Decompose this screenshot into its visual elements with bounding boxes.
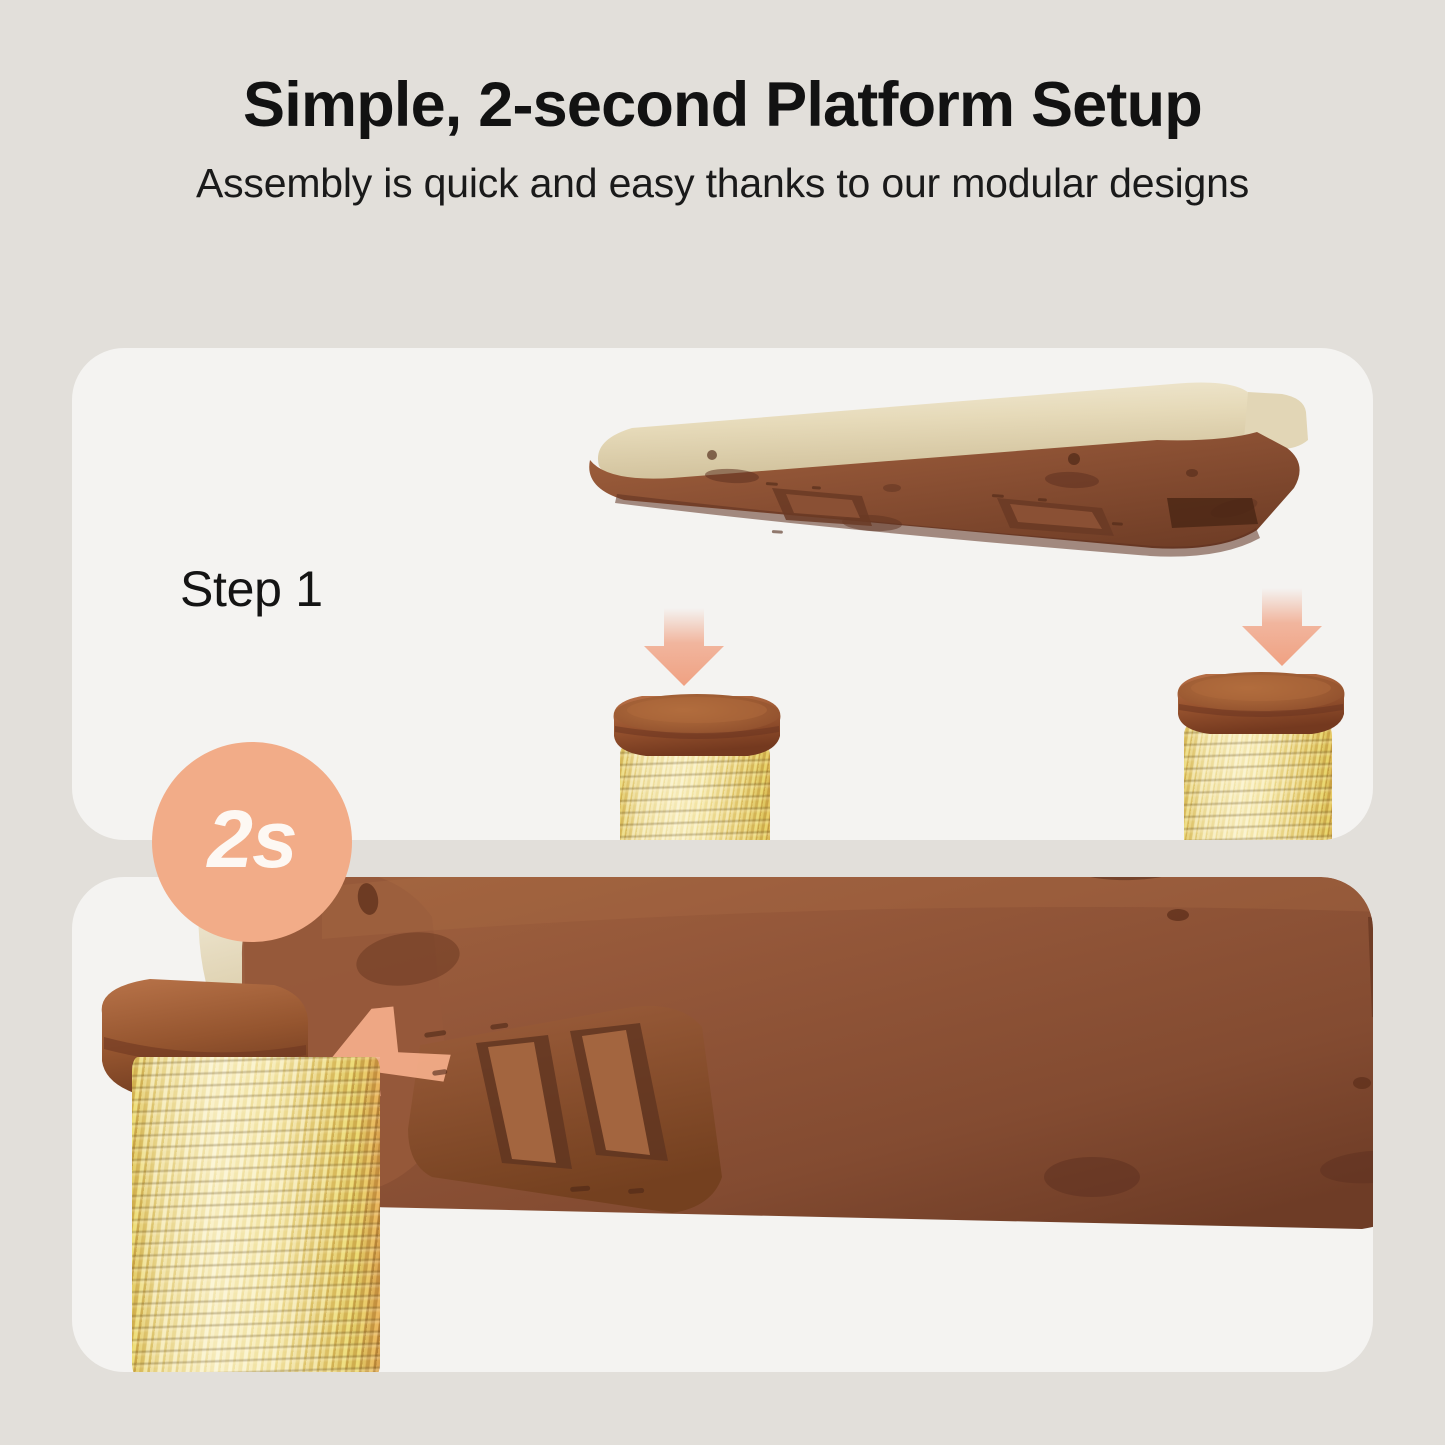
platform-molded-features-2 [353,877,1373,1197]
down-arrow-right-icon [1242,588,1322,666]
sisal-post-step2 [132,1057,380,1372]
platform-molded-features [705,450,1260,536]
duration-badge-label: 2s [207,799,296,881]
platform-edge-shadow [615,494,1260,557]
bracket-slots [476,1023,668,1169]
post-cap-left-icon [596,686,796,766]
platform-highlight [322,877,1373,939]
page-header: Simple, 2-second Platform Setup Assembly… [0,0,1445,206]
platform-hinge-tab [1244,392,1308,449]
platform-engraved-marks [766,482,1123,534]
down-arrow-left-icon [644,608,724,686]
duration-badge: 2s [152,742,352,942]
post-cap-right-icon [1160,664,1360,744]
platform-engraved-marks-2 [424,920,1373,1194]
platform-top-cream-rim [598,383,1268,484]
step-1-label: Step 1 [180,560,323,618]
page-subtitle: Assembly is quick and easy thanks to our… [0,161,1445,206]
platform-underside-large [244,877,1373,1229]
step-card-2: Step 2 [72,877,1373,1372]
platform-underside [589,432,1299,549]
page-title: Simple, 2-second Platform Setup [0,72,1445,139]
sliding-bracket-face [408,1006,722,1213]
